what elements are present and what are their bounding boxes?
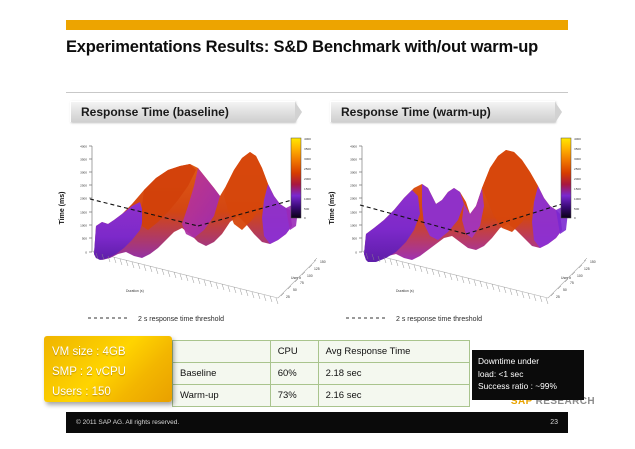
svg-text:1500: 1500	[304, 187, 311, 191]
row-baseline-label: Baseline	[173, 363, 271, 385]
svg-text:75: 75	[570, 281, 574, 285]
svg-text:2000: 2000	[350, 197, 357, 201]
svg-text:50: 50	[293, 288, 297, 292]
y-axis-title-warmup: Time (ms)	[329, 192, 336, 225]
colorbar-warmup: 4000 3500 3000 2500 2000 1500 1000 500 0	[561, 137, 581, 220]
svg-text:75: 75	[300, 281, 304, 285]
svg-text:2000: 2000	[304, 177, 311, 181]
x-axis-ticks-baseline	[96, 253, 278, 304]
svg-text:0: 0	[574, 216, 576, 220]
vm-config-callout: VM size : 4GB SMP : 2 vCPU Users : 150	[44, 336, 172, 402]
svg-text:3000: 3000	[574, 157, 581, 161]
page-number: 23	[550, 419, 558, 426]
table-row: Warm-up 73% 2.16 sec	[173, 385, 470, 407]
svg-text:3500: 3500	[304, 147, 311, 151]
panel-header-baseline: Response Time (baseline)	[70, 101, 295, 122]
svg-text:0: 0	[85, 251, 87, 255]
title-divider	[66, 92, 568, 93]
z-axis-title-baseline: User #	[291, 276, 301, 280]
svg-text:1500: 1500	[80, 211, 87, 215]
svg-text:100: 100	[307, 274, 313, 278]
svg-text:1000: 1000	[304, 197, 311, 201]
svg-text:3500: 3500	[574, 147, 581, 151]
chart-warmup-svg: 4000 3500 3000 2500 2000 1500 1000 500 0…	[318, 130, 613, 330]
svg-text:0: 0	[304, 216, 306, 220]
row-warmup-response: 2.16 sec	[318, 385, 469, 407]
svg-text:1000: 1000	[350, 224, 357, 228]
surface-chart-warmup: 4000 3500 3000 2500 2000 1500 1000 500 0…	[318, 130, 613, 330]
surface-mesh-warmup	[364, 150, 568, 262]
row-warmup-label: Warm-up	[173, 385, 271, 407]
smp-line: SMP : 2 vCPU	[52, 362, 172, 382]
svg-text:500: 500	[304, 207, 309, 211]
table-row: Baseline 60% 2.18 sec	[173, 363, 470, 385]
svg-text:2500: 2500	[350, 184, 357, 188]
legend-warmup: 2 s response time threshold	[346, 316, 482, 323]
panel-header-warmup-label: Response Time (warm-up)	[331, 105, 491, 119]
svg-text:1500: 1500	[574, 187, 581, 191]
svg-text:25: 25	[286, 295, 290, 299]
colorbar-baseline: 4000 3500 3000 2500 2000 1500 1000 500 0	[291, 137, 311, 220]
svg-text:1500: 1500	[350, 211, 357, 215]
legend-baseline: 2 s response time threshold	[88, 316, 224, 323]
svg-text:50: 50	[563, 288, 567, 292]
svg-text:4000: 4000	[574, 137, 581, 141]
downtime-line-2: load: <1 sec	[478, 368, 578, 381]
svg-text:3500: 3500	[350, 158, 357, 162]
svg-text:3000: 3000	[80, 171, 87, 175]
svg-text:100: 100	[577, 274, 583, 278]
svg-text:4000: 4000	[350, 145, 357, 149]
svg-text:3000: 3000	[350, 171, 357, 175]
svg-text:1000: 1000	[574, 197, 581, 201]
chart-baseline-svg: 4000 3500 3000 2500 2000 1500 1000 500 0…	[48, 130, 343, 330]
header-avg-response-time: Avg Response Time	[318, 341, 469, 363]
svg-text:25: 25	[556, 295, 560, 299]
table-header-row: CPU Avg Response Time	[173, 341, 470, 363]
row-baseline-response: 2.18 sec	[318, 363, 469, 385]
page-title: Experimentations Results: S&D Benchmark …	[66, 36, 586, 58]
z-axis-title-warmup: User #	[561, 276, 571, 280]
svg-text:500: 500	[574, 207, 579, 211]
svg-text:2000: 2000	[574, 177, 581, 181]
x-axis-ticks-warmup	[366, 253, 548, 304]
panel-header-baseline-label: Response Time (baseline)	[71, 105, 229, 119]
row-warmup-cpu: 73%	[270, 385, 318, 407]
vm-size-line: VM size : 4GB	[52, 342, 172, 362]
svg-text:2000: 2000	[80, 197, 87, 201]
surface-mesh-baseline	[94, 152, 298, 260]
svg-text:1000: 1000	[80, 224, 87, 228]
legend-label-baseline: 2 s response time threshold	[138, 316, 224, 323]
x-axis-title-baseline: Duration (s)	[126, 289, 144, 293]
legend-label-warmup: 2 s response time threshold	[396, 316, 482, 323]
surface-chart-baseline: 4000 3500 3000 2500 2000 1500 1000 500 0…	[48, 130, 343, 330]
header-blank	[173, 341, 271, 363]
svg-text:500: 500	[82, 237, 87, 241]
y-axis-title-baseline: Time (ms)	[59, 192, 66, 225]
svg-text:2500: 2500	[304, 167, 311, 171]
svg-text:500: 500	[352, 237, 357, 241]
downtime-line-1: Downtime under	[478, 355, 578, 368]
svg-text:4000: 4000	[80, 145, 87, 149]
svg-text:3500: 3500	[80, 158, 87, 162]
svg-text:3000: 3000	[304, 157, 311, 161]
svg-text:4000: 4000	[304, 137, 311, 141]
y-axis-ticks-warmup: 4000 3500 3000 2500 2000 1500 1000 500 0	[350, 145, 362, 255]
x-axis-title-warmup: Duration (s)	[396, 289, 414, 293]
header-cpu: CPU	[270, 341, 318, 363]
downtime-callout: Downtime under load: <1 sec Success rati…	[472, 350, 584, 400]
title-accent-bar	[66, 20, 568, 30]
svg-text:150: 150	[590, 260, 596, 264]
slide-footer: © 2011 SAP AG. All rights reserved. 23	[66, 412, 568, 433]
row-baseline-cpu: 60%	[270, 363, 318, 385]
svg-text:125: 125	[584, 267, 590, 271]
results-table: CPU Avg Response Time Baseline 60% 2.18 …	[172, 340, 470, 407]
users-line: Users : 150	[52, 382, 172, 402]
copyright-text: © 2011 SAP AG. All rights reserved.	[76, 419, 179, 426]
downtime-line-3: Success ratio : ~99%	[478, 380, 578, 393]
svg-text:0: 0	[355, 251, 357, 255]
svg-text:2500: 2500	[80, 184, 87, 188]
slide-canvas: Experimentations Results: S&D Benchmark …	[0, 0, 635, 449]
panel-header-warmup: Response Time (warm-up)	[330, 101, 555, 122]
svg-text:2500: 2500	[574, 167, 581, 171]
